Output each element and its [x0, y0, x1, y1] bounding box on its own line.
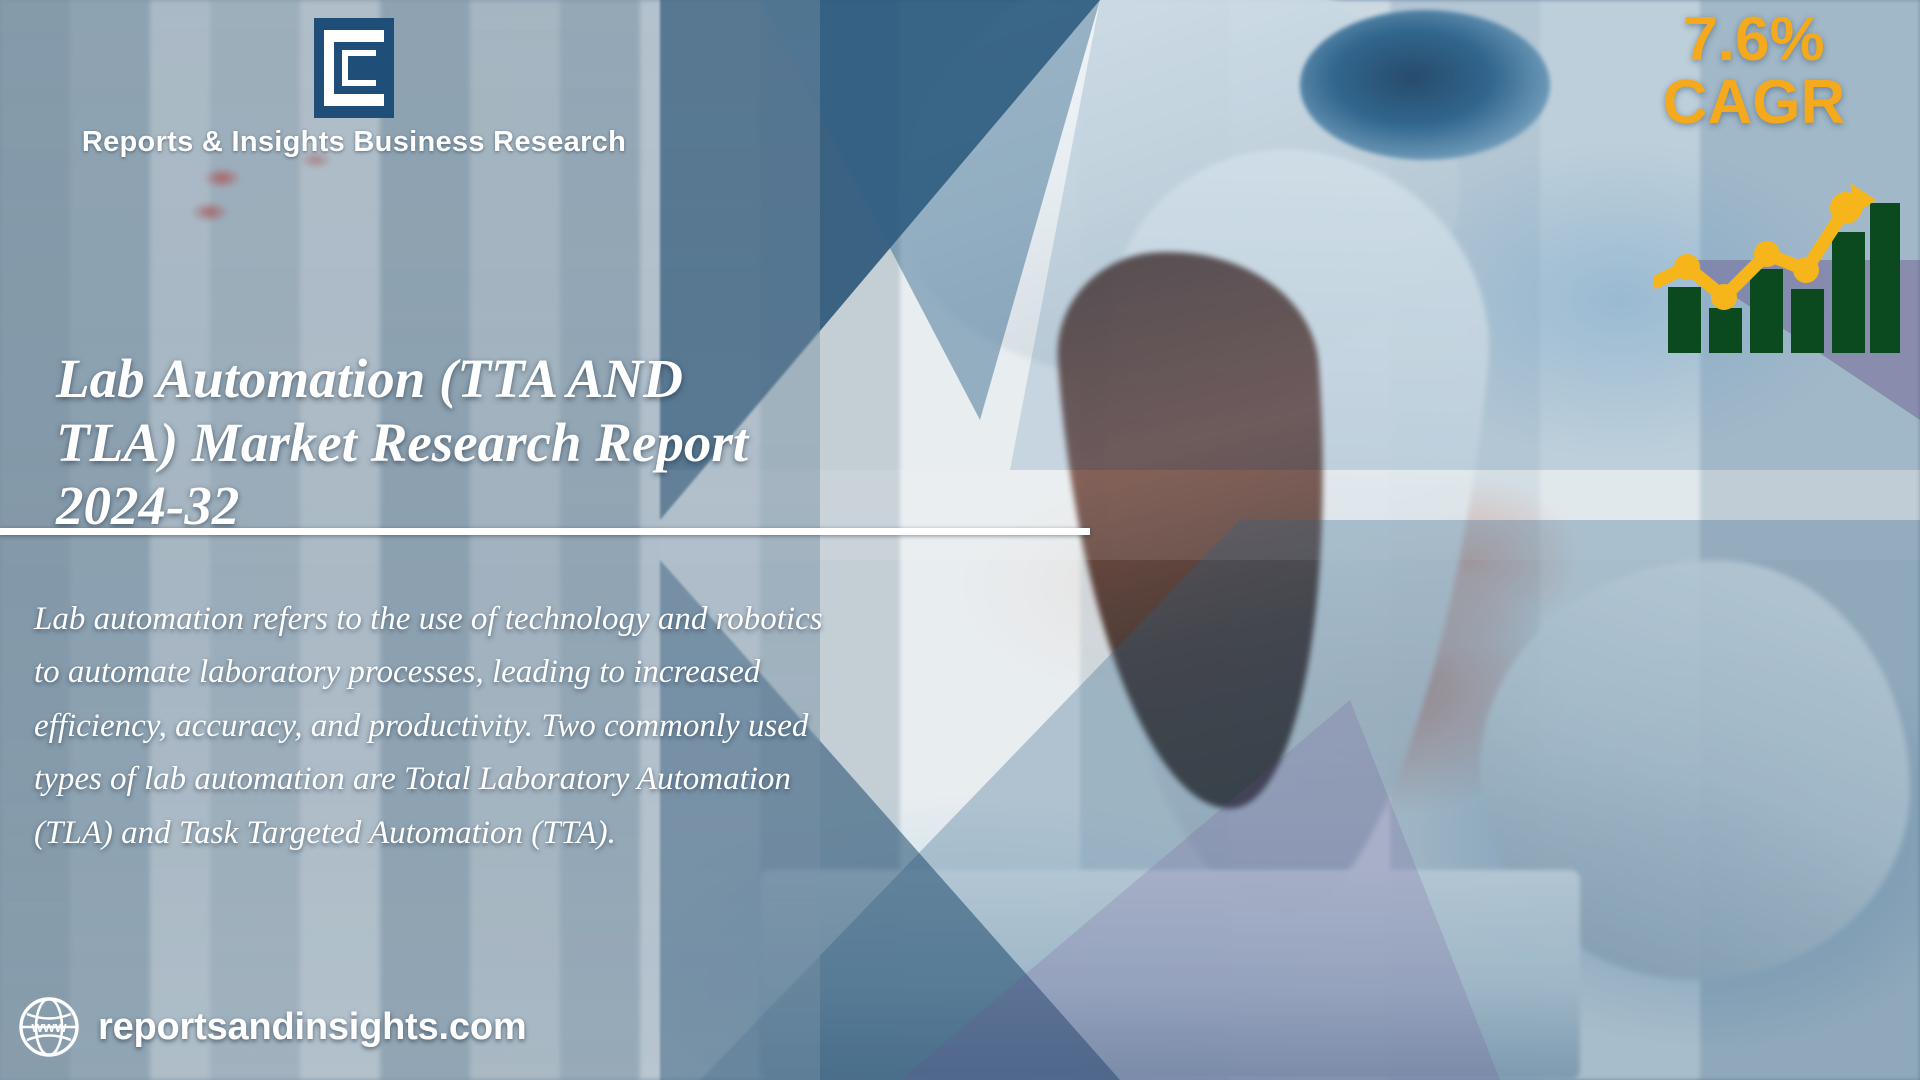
chart-bar-5: [1832, 232, 1865, 353]
chart-bar-2: [1709, 308, 1742, 353]
cagr-value: 7.6%: [1624, 8, 1884, 71]
title-divider: [0, 528, 1090, 535]
chart-bar-3: [1750, 269, 1783, 353]
chart-bar-6: [1870, 203, 1900, 353]
chart-bar-4: [1791, 289, 1824, 353]
website-footer[interactable]: www reportsandinsights.com: [18, 996, 526, 1058]
globe-www-icon: www: [18, 996, 80, 1058]
brand-lockup: Reports & Insights Business Research: [44, 16, 664, 159]
svg-text:www: www: [30, 1019, 66, 1036]
market-report-banner: Reports & Insights Business Research Lab…: [0, 0, 1920, 1080]
growth-chart-icon: [1654, 175, 1904, 360]
page-title: Lab Automation (TTA AND TLA) Market Rese…: [56, 347, 816, 538]
report-description: Lab automation refers to the use of tech…: [34, 593, 844, 860]
website-url[interactable]: reportsandinsights.com: [98, 1006, 526, 1049]
left-content-panel: [0, 0, 820, 1080]
cagr-label: CAGR: [1624, 71, 1884, 134]
chart-bar-1: [1668, 287, 1701, 353]
brand-name: Reports & Insights Business Research: [44, 126, 664, 159]
square-spiral-logo-icon: [312, 16, 396, 120]
cagr-badge: 7.6% CAGR: [1624, 8, 1884, 134]
